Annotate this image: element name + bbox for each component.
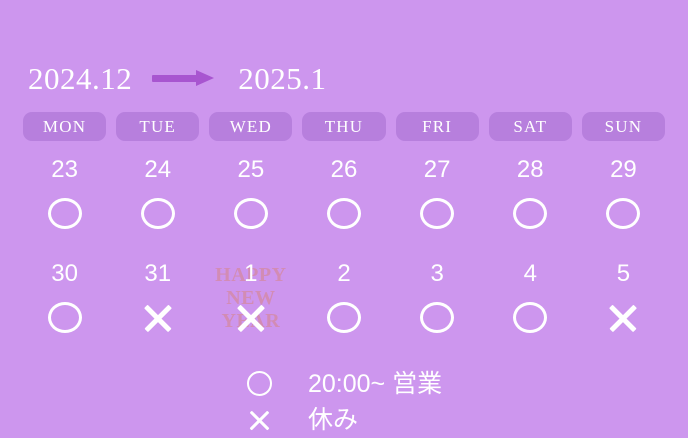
weekday-header-row: MONTUEWEDTHUFRISATSUN (23, 112, 665, 142)
circle-shape (513, 198, 547, 229)
weekday-label: MON (43, 118, 86, 135)
weekday-label: WED (230, 118, 272, 135)
weekday-label: FRI (422, 118, 452, 135)
day-number: 24 (144, 158, 171, 182)
closed-cross-icon (232, 299, 270, 337)
day-cell[interactable]: HAPPYNEWYEAR1 (209, 258, 292, 350)
cross-shape (232, 299, 270, 337)
day-cell[interactable]: 25 (209, 154, 292, 246)
day-cell[interactable]: 4 (489, 258, 572, 350)
open-circle-icon (418, 299, 456, 337)
calendar-legend: 20:00~ 営業休み (246, 366, 442, 438)
day-cell[interactable]: 27 (396, 154, 479, 246)
cross-icon (246, 405, 280, 435)
open-circle-icon (511, 299, 549, 337)
cross-shape (246, 407, 273, 434)
legend-label: 休み (308, 408, 358, 433)
day-number: 5 (617, 262, 630, 286)
circle-shape (48, 302, 82, 333)
weekday-label: TUE (139, 118, 176, 135)
weekday-header-fri[interactable]: FRI (396, 112, 479, 141)
weekday-label: SAT (513, 118, 547, 135)
legend-row: 20:00~ 営業 (246, 366, 442, 402)
day-cell[interactable]: 30 (23, 258, 106, 350)
day-cell[interactable]: 2 (302, 258, 385, 350)
calendar-weeks: 232425262728293031HAPPYNEWYEAR12345 (23, 154, 665, 350)
circle-shape (420, 198, 454, 229)
legend-label: 20:00~ 営業 (308, 372, 442, 397)
open-circle-icon (232, 195, 270, 233)
day-cell[interactable]: 3 (396, 258, 479, 350)
weekday-header-sat[interactable]: SAT (489, 112, 572, 141)
closed-cross-icon (604, 299, 642, 337)
day-number: 3 (430, 262, 443, 286)
day-number: 28 (517, 158, 544, 182)
open-circle-icon (139, 195, 177, 233)
open-circle-icon (325, 195, 363, 233)
open-circle-icon (325, 299, 363, 337)
circle-shape (48, 198, 82, 229)
circle-shape (606, 198, 640, 229)
day-cell[interactable]: 28 (489, 154, 572, 246)
day-cell[interactable]: 24 (116, 154, 199, 246)
open-circle-icon (418, 195, 456, 233)
day-cell[interactable]: 31 (116, 258, 199, 350)
weekday-header-tue[interactable]: TUE (116, 112, 199, 141)
cross-shape (139, 299, 177, 337)
circle-shape (513, 302, 547, 333)
circle-icon (246, 369, 280, 399)
circle-shape (327, 198, 361, 229)
day-cell[interactable]: 23 (23, 154, 106, 246)
circle-shape (234, 198, 268, 229)
open-circle-icon (46, 299, 84, 337)
calendar-grid: MONTUEWEDTHUFRISATSUN 232425262728293031… (23, 112, 665, 350)
circle-shape (327, 302, 361, 333)
weekday-header-mon[interactable]: MON (23, 112, 106, 141)
day-number: 26 (331, 158, 358, 182)
calendar-title: 2024.12 2025.1 (0, 56, 688, 100)
day-cell[interactable]: 5 (582, 258, 665, 350)
day-number: 31 (144, 262, 171, 286)
circle-shape (247, 371, 272, 396)
open-circle-icon (511, 195, 549, 233)
title-month-to: 2025.1 (238, 63, 326, 94)
weekday-header-thu[interactable]: THU (302, 112, 385, 141)
day-cell[interactable]: 29 (582, 154, 665, 246)
circle-shape (420, 302, 454, 333)
cross-shape (604, 299, 642, 337)
circle-shape (141, 198, 175, 229)
day-number: 4 (524, 262, 537, 286)
day-number: 30 (51, 262, 78, 286)
weekday-header-wed[interactable]: WED (209, 112, 292, 141)
day-number: 27 (424, 158, 451, 182)
weekday-label: SUN (605, 118, 643, 135)
weekday-header-sun[interactable]: SUN (582, 112, 665, 141)
title-month-from: 2024.12 (28, 63, 132, 94)
arrow-right-icon (152, 70, 214, 86)
open-circle-icon (604, 195, 642, 233)
calendar-week-row: 23242526272829 (23, 154, 665, 246)
calendar-week-row: 3031HAPPYNEWYEAR12345 (23, 258, 665, 350)
open-circle-icon (46, 195, 84, 233)
weekday-label: THU (325, 118, 364, 135)
day-number: 2 (337, 262, 350, 286)
closed-cross-icon (139, 299, 177, 337)
day-number: 29 (610, 158, 637, 182)
day-cell[interactable]: 26 (302, 154, 385, 246)
day-number: 25 (238, 158, 265, 182)
day-number: 1 (244, 262, 257, 286)
day-number: 23 (51, 158, 78, 182)
legend-row: 休み (246, 402, 442, 438)
